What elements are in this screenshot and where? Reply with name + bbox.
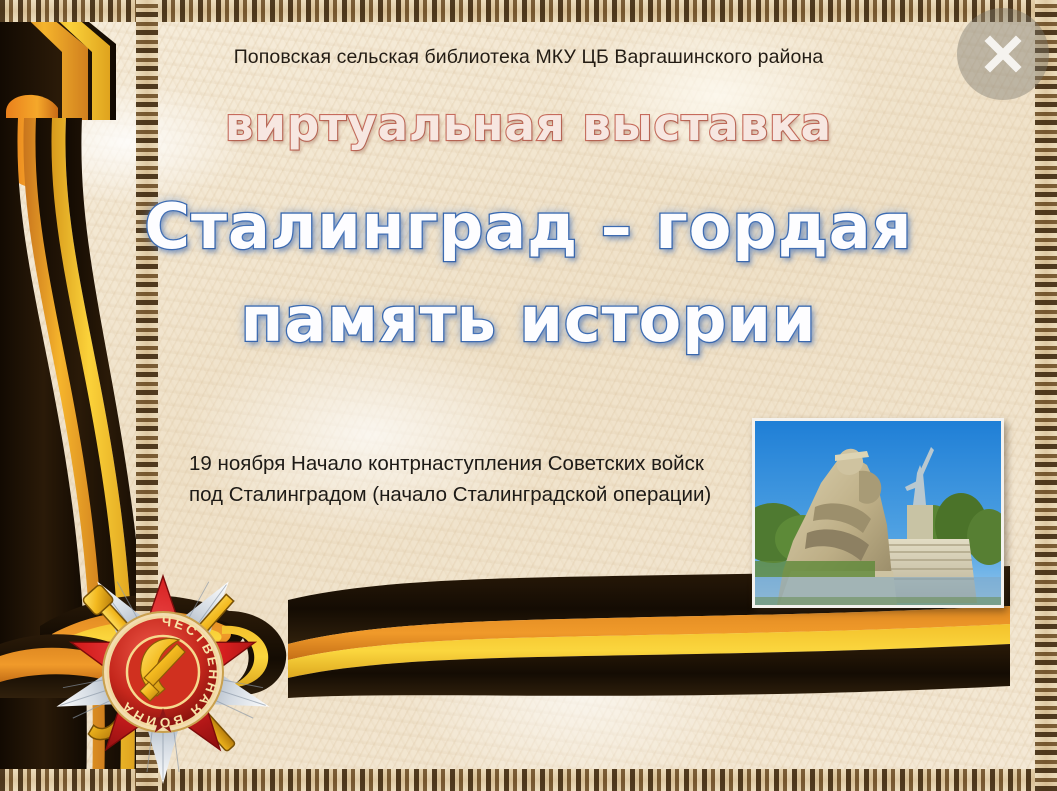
mamayev-kurgan-photo [752, 418, 1004, 608]
wordart-title-line-1: Сталинград – гордая [0, 190, 1057, 263]
order-of-the-patriotic-war-medal: ОТЕЧЕСТВЕННАЯ ВОЙНА [32, 552, 294, 791]
memorial-photo-illustration [755, 421, 1001, 605]
library-caption: Поповская сельская библиотека МКУ ЦБ Вар… [0, 46, 1057, 69]
wordart-subtitle: виртуальная выставка [0, 98, 1057, 151]
close-button[interactable] [957, 8, 1049, 100]
close-icon [976, 27, 1030, 81]
slide-viewer: ОТЕЧЕСТВЕННАЯ ВОЙНА Поповская сельская б… [0, 0, 1057, 791]
body-paragraph: 19 ноября Начало контрнаступления Советс… [189, 448, 719, 510]
wordart-title-line-2: память истории [0, 283, 1057, 356]
